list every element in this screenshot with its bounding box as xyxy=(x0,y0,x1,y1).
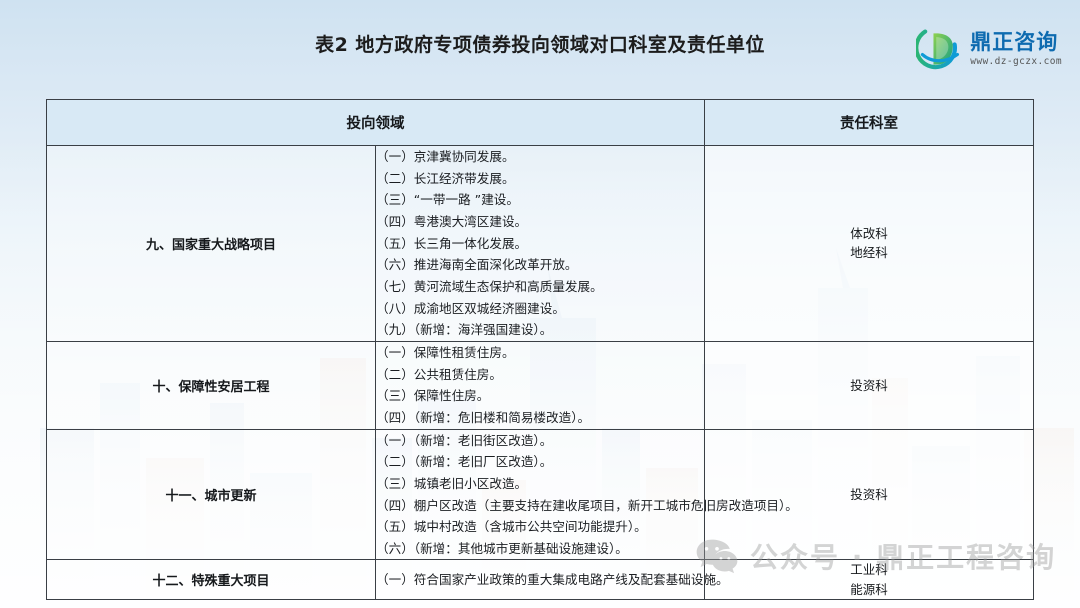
policy-table: 投向领域 责任科室 九、国家重大战略项目（一）京津冀协同发展。（二）长江经济带发… xyxy=(46,99,1034,600)
department-name: 地经科 xyxy=(705,243,1033,262)
list-item: （六）推进海南全面深化改革开放。 xyxy=(376,254,704,276)
table-row: 十二、特殊重大项目（一）符合国家产业政策的重大集成电路产线及配套基础设施。工业科… xyxy=(47,560,1034,600)
items-cell: （一）京津冀协同发展。（二）长江经济带发展。（三）“一带一路 ”建设。（四）粤港… xyxy=(376,146,705,342)
table-row: 九、国家重大战略项目（一）京津冀协同发展。（二）长江经济带发展。（三）“一带一路… xyxy=(47,146,1034,342)
list-item: （一）（新增：老旧街区改造）。 xyxy=(376,430,704,452)
category-cell: 十二、特殊重大项目 xyxy=(47,560,376,600)
list-item: （一）京津冀协同发展。 xyxy=(376,146,704,168)
department-name: 投资科 xyxy=(705,376,1033,395)
department-cell: 投资科 xyxy=(705,341,1034,429)
department-cell: 工业科能源科 xyxy=(705,560,1034,600)
table-row: 十一、城市更新（一）（新增：老旧街区改造）。（二）（新增：老旧厂区改造）。（三）… xyxy=(47,429,1034,560)
items-cell: （一）保障性租赁住房。（二）公共租赁住房。（三）保障性住房。（四）（新增：危旧楼… xyxy=(376,341,705,429)
list-item: （三）保障性住房。 xyxy=(376,385,704,407)
list-item: （四）（新增：危旧楼和简易楼改造）。 xyxy=(376,407,704,429)
list-item: （七）黄河流域生态保护和高质量发展。 xyxy=(376,276,704,298)
list-item: （三）“一带一路 ”建设。 xyxy=(376,189,704,211)
list-item: （五）城中村改造（含城市公共空间功能提升）。 xyxy=(376,516,704,538)
list-item: （二）（新增：老旧厂区改造）。 xyxy=(376,451,704,473)
department-name: 工业科 xyxy=(705,560,1033,579)
category-cell: 九、国家重大战略项目 xyxy=(47,146,376,342)
header-department: 责任科室 xyxy=(705,100,1034,146)
list-item: （四）棚户区改造（主要支持在建收尾项目，新开工城市危旧房改造项目）。 xyxy=(376,495,704,517)
list-item: （五）长三角一体化发展。 xyxy=(376,233,704,255)
list-item: （二）公共租赁住房。 xyxy=(376,364,704,386)
list-item: （二）长江经济带发展。 xyxy=(376,168,704,190)
department-name: 能源科 xyxy=(705,580,1033,599)
list-item: （八）成渝地区双城经济圈建设。 xyxy=(376,298,704,320)
list-item: （三）城镇老旧小区改造。 xyxy=(376,473,704,495)
department-name: 体改科 xyxy=(705,224,1033,243)
table-head: 投向领域 责任科室 xyxy=(47,100,1034,146)
list-item: （一）保障性租赁住房。 xyxy=(376,342,704,364)
items-cell: （一）（新增：老旧街区改造）。（二）（新增：老旧厂区改造）。（三）城镇老旧小区改… xyxy=(376,429,705,560)
table-row: 十、保障性安居工程（一）保障性租赁住房。（二）公共租赁住房。（三）保障性住房。（… xyxy=(47,341,1034,429)
list-item: （六）（新增：其他城市更新基础设施建设）。 xyxy=(376,538,704,560)
brand-url: www.dz-gczx.com xyxy=(970,57,1062,67)
brand-logo-block: 鼎正咨询 www.dz-gczx.com xyxy=(916,26,1062,72)
department-cell: 体改科地经科 xyxy=(705,146,1034,342)
category-cell: 十、保障性安居工程 xyxy=(47,341,376,429)
list-item: （九）（新增：海洋强国建设）。 xyxy=(376,319,704,341)
items-cell: （一）符合国家产业政策的重大集成电路产线及配套基础设施。 xyxy=(376,560,705,600)
table-body: 九、国家重大战略项目（一）京津冀协同发展。（二）长江经济带发展。（三）“一带一路… xyxy=(47,146,1034,600)
brand-name: 鼎正咨询 xyxy=(970,32,1062,53)
header-field: 投向领域 xyxy=(47,100,705,146)
list-item: （一）符合国家产业政策的重大集成电路产线及配套基础设施。 xyxy=(376,569,704,591)
dz-circular-leaf-logo-icon xyxy=(916,26,962,72)
department-cell: 投资科 xyxy=(705,429,1034,560)
list-item: （四）粤港澳大湾区建设。 xyxy=(376,211,704,233)
table-header-row: 投向领域 责任科室 xyxy=(47,100,1034,146)
category-cell: 十一、城市更新 xyxy=(47,429,376,560)
